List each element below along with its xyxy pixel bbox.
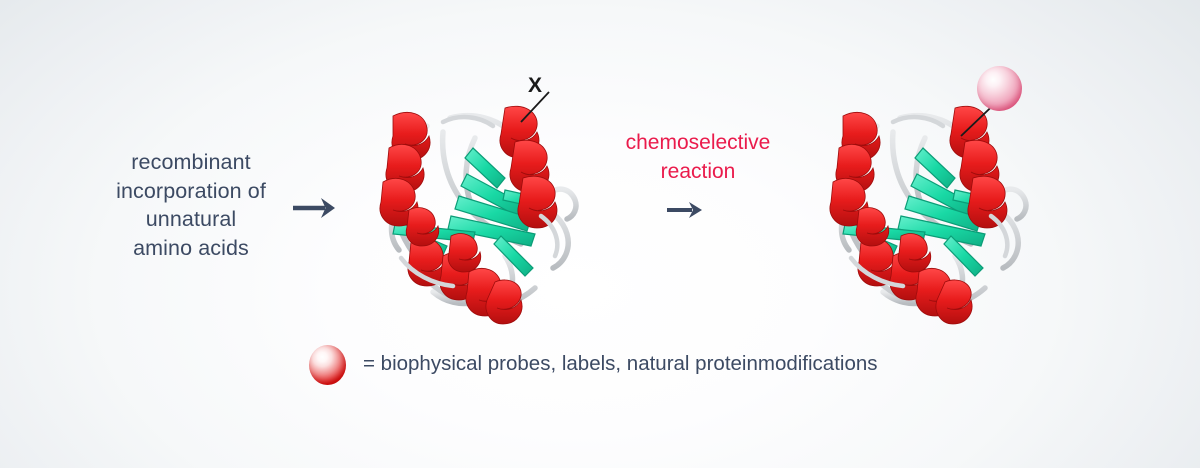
reaction-caption-line-1: chemoselective — [596, 128, 800, 157]
probe-sphere — [977, 66, 1022, 111]
reaction-caption: chemoselective reaction — [596, 128, 800, 186]
arrow-step-2 — [665, 198, 707, 227]
left-caption-line-2: incorporation of — [96, 177, 286, 206]
left-caption-line-4: amino acids — [96, 234, 286, 263]
left-caption: recombinant incorporation of unnatural a… — [96, 148, 286, 262]
arrow-right-icon — [665, 198, 707, 222]
unnatural-amino-acid-marker: X — [528, 74, 542, 98]
legend-sphere-icon — [309, 345, 346, 385]
left-caption-line-3: unnatural — [96, 205, 286, 234]
reaction-scheme-figure: recombinant incorporation of unnatural a… — [0, 0, 1200, 468]
left-caption-line-1: recombinant — [96, 148, 286, 177]
legend-label: = biophysical probes, labels, natural pr… — [363, 351, 878, 377]
reaction-caption-line-2: reaction — [596, 157, 800, 186]
arrow-right-icon — [291, 194, 341, 222]
legend: = biophysical probes, labels, natural pr… — [306, 340, 878, 388]
arrow-step-1 — [291, 194, 341, 227]
protein-labeled — [805, 86, 1045, 341]
protein-unmodified — [355, 86, 595, 341]
